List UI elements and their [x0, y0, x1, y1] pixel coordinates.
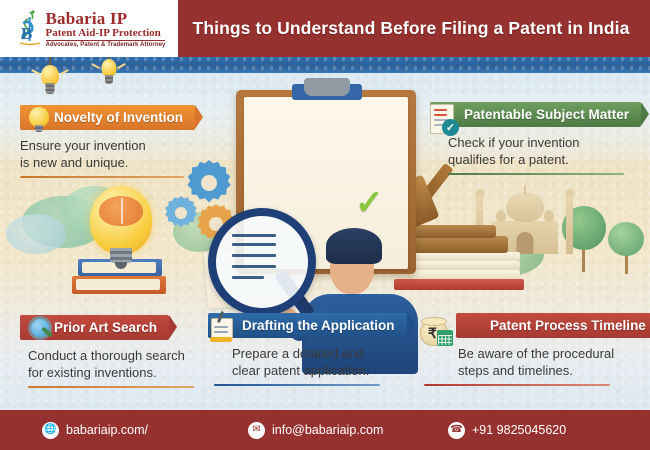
footer-email-text: info@babariaip.com	[272, 423, 383, 437]
card-body: Ensure your invention is new and unique.	[20, 137, 206, 171]
card-body-line: qualifies for a patent.	[448, 151, 632, 168]
logo-line-3: Advocates, Patent & Trademark Attorney	[46, 42, 166, 48]
card-title-ribbon: Patentable Subject Matter	[430, 102, 641, 127]
card-prior-art-search[interactable]: Prior Art Search Conduct a thorough sear…	[20, 315, 202, 388]
bush-shape	[6, 214, 66, 254]
card-title: Patentable Subject Matter	[464, 107, 629, 122]
footer-phone[interactable]: ☎ +91 9825045620	[448, 422, 566, 439]
hanging-bulb-icon	[99, 57, 119, 97]
logo-line-1: Babaria IP	[46, 10, 128, 27]
svg-text:B: B	[21, 24, 32, 43]
card-body-line: Conduct a thorough search	[28, 347, 202, 364]
card-title: Novelty of Invention	[54, 110, 183, 125]
logo-line-2: Patent Aid-IP Protection	[46, 28, 161, 39]
brain-lightbulb-icon	[90, 186, 152, 270]
card-title: Patent Process Timeline	[490, 318, 646, 333]
card-patentable-subject-matter[interactable]: ✓ Patentable Subject Matter Check if you…	[426, 102, 632, 175]
minaret-shape	[566, 196, 573, 254]
card-body: Prepare a detailed and clear patent appl…	[232, 345, 400, 379]
clipboard-clamp	[304, 78, 350, 96]
ribbon-notch-icon	[169, 315, 177, 339]
footer-website[interactable]: 🌐 babariaip.com/	[42, 422, 148, 439]
law-book-shape	[394, 279, 524, 290]
top-blue-band	[0, 57, 650, 73]
page-title: Things to Understand Before Filing a Pat…	[178, 0, 650, 57]
person-hair	[326, 228, 382, 264]
card-body-line: Check if your invention	[448, 134, 632, 151]
law-book-shape	[398, 252, 520, 261]
logo-divider	[46, 40, 166, 41]
footer-phone-text: +91 9825045620	[472, 423, 566, 437]
card-body-line: is new and unique.	[20, 154, 206, 171]
clipboard-check-icon: ✓	[430, 104, 456, 134]
caduceus-b-logo-icon: B	[17, 9, 43, 49]
card-body-line: steps and timelines.	[458, 362, 630, 379]
card-body-line: Be aware of the procedural	[458, 345, 630, 362]
card-divider	[214, 384, 380, 386]
card-novelty[interactable]: Novelty of Invention Ensure your inventi…	[20, 105, 206, 178]
footer-website-text: babariaip.com/	[66, 423, 148, 437]
law-book-shape	[398, 270, 520, 279]
card-title: Drafting the Application	[242, 318, 395, 333]
card-title-ribbon: Patent Process Timeline	[456, 313, 650, 338]
check-badge-icon: ✓	[442, 119, 459, 136]
magnified-text-line	[232, 265, 276, 268]
envelope-icon: ✉	[248, 422, 265, 439]
magnified-text-line	[232, 254, 276, 257]
card-body-line: for existing inventions.	[28, 364, 202, 381]
card-patent-process-timeline[interactable]: ₹ Patent Process Timeline Be aware of th…	[414, 313, 630, 386]
card-title-ribbon: Drafting the Application	[208, 313, 407, 338]
card-divider	[448, 173, 624, 175]
ribbon-notch-icon	[641, 102, 649, 126]
gavel-sound-block	[410, 225, 496, 238]
magnified-text-line	[232, 243, 276, 246]
infographic-poster: ✓ Novelty of Invention Ensure your inven…	[0, 0, 650, 450]
card-divider	[28, 386, 194, 388]
law-book-shape	[398, 261, 520, 270]
tree-foliage-shape	[608, 222, 644, 256]
document-pen-icon	[210, 314, 234, 342]
footer-bar: 🌐 babariaip.com/ ✉ info@babariaip.com ☎ …	[0, 410, 650, 450]
magnifier-lens	[208, 208, 316, 316]
card-body-line: Prepare a detailed and	[232, 345, 400, 362]
phone-icon: ☎	[448, 422, 465, 439]
card-drafting-the-application[interactable]: Drafting the Application Prepare a detai…	[206, 313, 400, 386]
card-body: Be aware of the procedural steps and tim…	[458, 345, 630, 379]
lightbulb-icon	[28, 107, 50, 132]
book-shape	[76, 279, 160, 290]
magnified-text-line	[232, 276, 264, 279]
card-title: Prior Art Search	[54, 320, 157, 335]
card-body: Check if your invention qualifies for a …	[448, 134, 632, 168]
header-bar: B Babaria IP Patent Aid-IP Protection Ad…	[0, 0, 650, 57]
footer-email[interactable]: ✉ info@babariaip.com	[248, 422, 383, 439]
ribbon-notch-icon	[195, 105, 203, 129]
rupee-symbol: ₹	[428, 325, 437, 342]
hanging-bulb-icon	[40, 57, 60, 102]
card-divider	[20, 176, 184, 178]
magnified-text-line	[232, 234, 276, 237]
card-body: Conduct a thorough search for existing i…	[28, 347, 202, 381]
card-divider	[424, 384, 610, 386]
card-body-line: clear patent application.	[232, 362, 400, 379]
card-body-line: Ensure your invention	[20, 137, 206, 154]
magnifying-glass-icon	[28, 316, 52, 340]
brand-logo[interactable]: B Babaria IP Patent Aid-IP Protection Ad…	[0, 0, 178, 57]
globe-icon: 🌐	[42, 422, 59, 439]
green-checkmark-icon: ✓	[355, 186, 384, 220]
calendar-icon	[437, 330, 453, 346]
money-bag-calendar-icon: ₹	[418, 315, 452, 345]
